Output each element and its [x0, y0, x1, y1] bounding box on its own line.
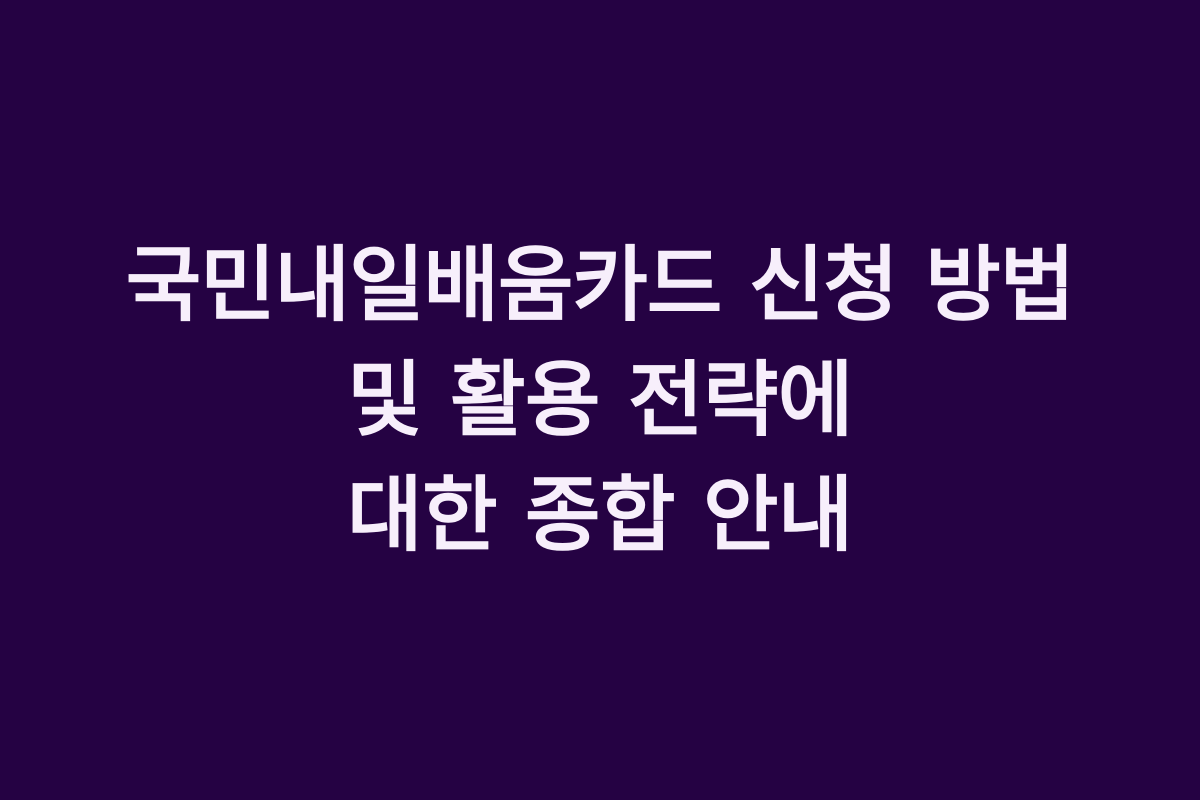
headline-line-1: 국민내일배움카드 신청 방법 [20, 228, 1180, 343]
headline-line-3: 대한 종합 안내 [20, 458, 1180, 573]
banner-canvas: 국민내일배움카드 신청 방법 및 활용 전략에 대한 종합 안내 [0, 0, 1200, 800]
page-title: 국민내일배움카드 신청 방법 및 활용 전략에 대한 종합 안내 [20, 228, 1180, 573]
headline-line-2: 및 활용 전략에 [20, 343, 1180, 458]
